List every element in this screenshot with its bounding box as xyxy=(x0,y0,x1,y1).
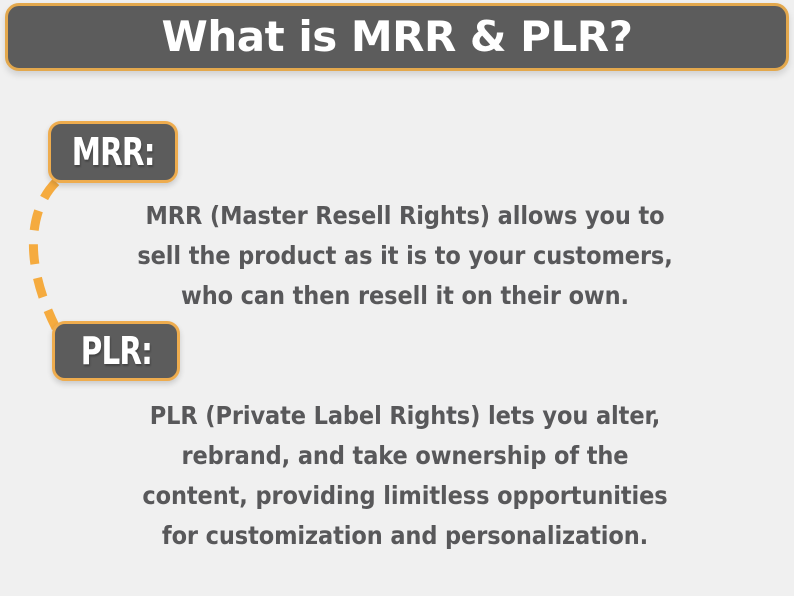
paragraph-plr: PLR (Private Label Rights) lets you alte… xyxy=(100,396,710,556)
page-title: What is MRR & PLR? xyxy=(162,16,633,58)
paragraph-plr-line-2: rebrand, and take ownership of the xyxy=(100,436,710,476)
paragraph-plr-line-3: content, providing limitless opportuniti… xyxy=(100,476,710,516)
paragraph-mrr: MRR (Master Resell Rights) allows you to… xyxy=(100,196,710,316)
badge-plr: PLR: xyxy=(52,321,180,381)
badge-mrr-label: MRR: xyxy=(72,133,155,171)
paragraph-plr-line-1: PLR (Private Label Rights) lets you alte… xyxy=(100,396,710,436)
paragraph-mrr-line-2: sell the product as it is to your custom… xyxy=(100,236,710,276)
slide-canvas: What is MRR & PLR? MRR: MRR (Master Rese… xyxy=(0,0,794,596)
paragraph-mrr-line-1: MRR (Master Resell Rights) allows you to xyxy=(100,196,710,236)
header-banner: What is MRR & PLR? xyxy=(5,3,789,71)
badge-plr-label: PLR: xyxy=(80,332,151,370)
paragraph-mrr-line-3: who can then resell it on their own. xyxy=(100,276,710,316)
paragraph-plr-line-4: for customization and personalization. xyxy=(100,516,710,556)
badge-mrr: MRR: xyxy=(48,121,178,183)
